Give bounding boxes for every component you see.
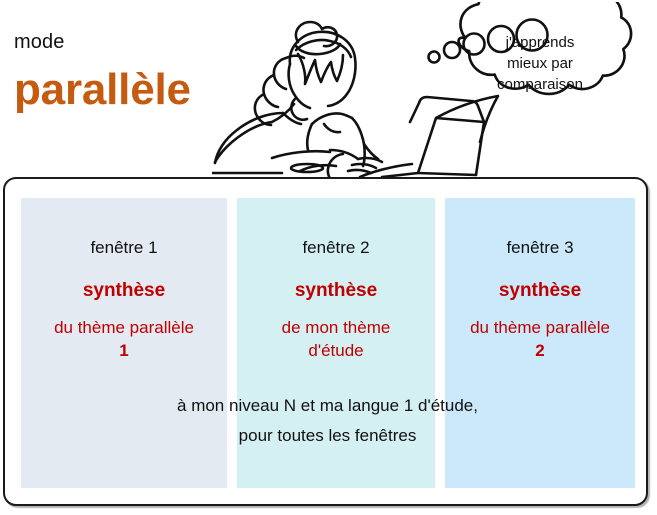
thought-bubble-line-2: mieux par bbox=[455, 53, 625, 74]
window-column-3: fenêtre 3 synthèse du thème parallèle 2 bbox=[445, 198, 635, 488]
window-2-synthesis-label: synthèse bbox=[237, 280, 435, 302]
window-column-1: fenêtre 1 synthèse du thème parallèle 1 bbox=[21, 198, 227, 488]
window-1-description-line-2: 1 bbox=[119, 341, 128, 360]
thought-bubble-line-1: j'apprends bbox=[455, 32, 625, 53]
window-column-2: fenêtre 2 synthèse de mon thème d'étude bbox=[237, 198, 435, 488]
window-2-heading: fenêtre 2 bbox=[237, 238, 435, 258]
header: mode parallèle bbox=[0, 0, 657, 177]
page-title: parallèle bbox=[14, 65, 191, 115]
window-3-description-line-1: du thème parallèle bbox=[470, 318, 610, 337]
window-1-heading: fenêtre 1 bbox=[21, 238, 227, 258]
thought-bubble-line-3: comparaison bbox=[455, 74, 625, 95]
mode-label: mode bbox=[14, 31, 64, 54]
window-1-description: du thème parallèle 1 bbox=[21, 316, 227, 362]
window-3-heading: fenêtre 3 bbox=[445, 238, 635, 258]
window-2-description: de mon thème d'étude bbox=[237, 316, 435, 362]
window-2-description-line-2: d'étude bbox=[308, 341, 363, 360]
thought-bubble-text: j'apprends mieux par comparaison bbox=[455, 32, 625, 95]
window-3-description: du thème parallèle 2 bbox=[445, 316, 635, 362]
window-columns: fenêtre 1 synthèse du thème parallèle 1 … bbox=[5, 179, 646, 504]
parallel-mode-card: fenêtre 1 synthèse du thème parallèle 1 … bbox=[3, 177, 648, 506]
window-3-synthesis-label: synthèse bbox=[445, 280, 635, 302]
window-1-synthesis-label: synthèse bbox=[21, 280, 227, 302]
window-3-description-line-2: 2 bbox=[535, 341, 544, 360]
window-2-description-line-1: de mon thème bbox=[282, 318, 391, 337]
window-1-description-line-1: du thème parallèle bbox=[54, 318, 194, 337]
